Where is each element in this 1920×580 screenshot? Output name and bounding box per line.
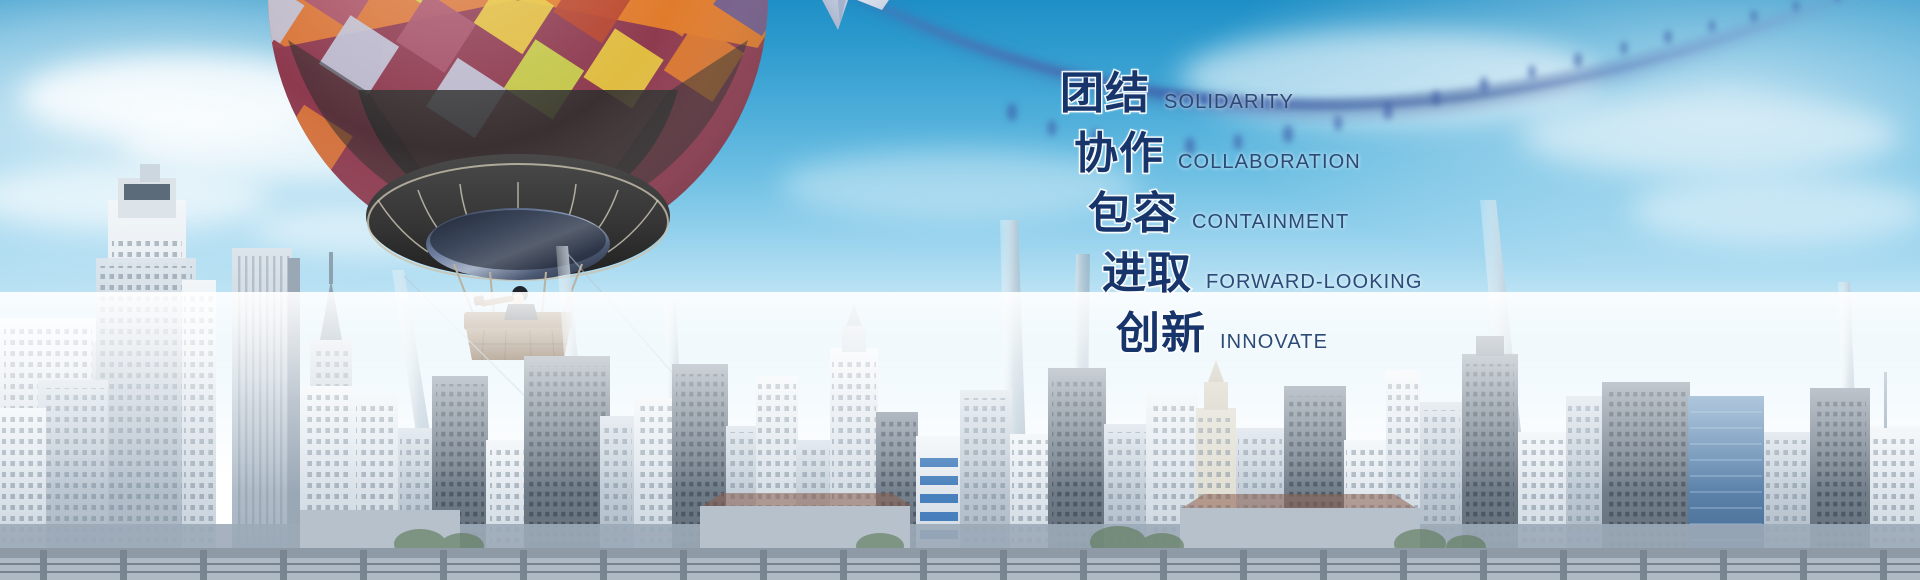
slogan-line: 团结 SOLIDARITY: [1060, 68, 1620, 120]
slogan-en-containment: CONTAINMENT: [1192, 211, 1349, 234]
slogan-cn-forward-looking: 进取: [1102, 248, 1192, 300]
city-skyline: [0, 140, 1920, 580]
slogan-en-collaboration: COLLABORATION: [1178, 151, 1361, 174]
slogan-line: 进取 FORWARD-LOOKING: [1060, 248, 1620, 300]
slogan-cn-innovate: 创新: [1116, 308, 1206, 360]
slogan-en-solidarity: SOLIDARITY: [1164, 91, 1294, 114]
silver-geometric-shape-icon: [790, 0, 920, 63]
slogan-line: 包容 CONTAINMENT: [1060, 188, 1620, 240]
slogan-cn-collaboration: 协作: [1074, 128, 1164, 180]
slogan-line: 创新 INNOVATE: [1060, 308, 1620, 360]
slogan-cn-solidarity: 团结: [1060, 68, 1150, 120]
corporate-banner: 团结 SOLIDARITY 协作 COLLABORATION 包容 CONTAI…: [0, 0, 1920, 580]
slogan-line: 协作 COLLABORATION: [1060, 128, 1620, 180]
slogan-en-innovate: INNOVATE: [1220, 331, 1328, 354]
slogan-cn-containment: 包容: [1088, 188, 1178, 240]
slogan-en-forward-looking: FORWARD-LOOKING: [1206, 271, 1423, 294]
slogan-block: 团结 SOLIDARITY 协作 COLLABORATION 包容 CONTAI…: [1060, 68, 1620, 368]
